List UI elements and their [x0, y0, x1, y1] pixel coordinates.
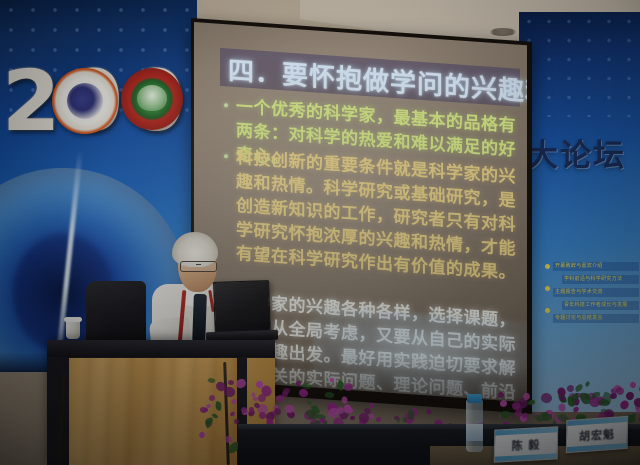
nameplate-name: 胡宏魁 — [567, 417, 627, 452]
forum-title-text: ⼤论坛 — [527, 130, 626, 175]
nameplate-name: 陈 毅 — [495, 427, 557, 461]
program-line: 主题报告与学术交流 — [553, 288, 639, 297]
slide-bullet-text-2: 科技创新的重要条件就是科学家的兴趣和热情。科学研究或基础研究，是创造新知识的工作… — [236, 146, 526, 286]
program-line: 开幕致辞与嘉宾介绍 — [553, 262, 639, 271]
speaker-necktie — [192, 294, 207, 344]
program-bullet-icon — [545, 264, 550, 269]
chair — [86, 281, 146, 345]
program-bullet-icon — [545, 308, 550, 313]
podium-top-edge — [47, 340, 275, 357]
institute-emblem-icon — [52, 68, 118, 134]
podium-wood-panel — [69, 358, 237, 465]
program-line: 青年科技工作者成长与发展 — [562, 301, 639, 310]
nameplate-2: 胡宏魁 — [566, 416, 628, 453]
program-list: 开幕致辞与嘉宾介绍 学科前沿与科学研究方法 主题报告与学术交流 青年科技工作者成… — [553, 262, 639, 327]
green-red-emblem-icon — [121, 68, 183, 130]
nameplate-1: 陈 毅 — [494, 426, 558, 462]
speaker-glasses-icon — [180, 261, 217, 272]
water-bottle-cap — [467, 394, 482, 403]
program-line: 学科前沿与科学研究方法 — [562, 275, 639, 284]
paper-cup — [66, 320, 80, 339]
backdrop-right-dot-pattern — [519, 12, 640, 117]
ceiling-light-1 — [490, 28, 516, 36]
program-line: 专题讨论与总结发言 — [553, 314, 639, 323]
paper-cup-lid — [64, 317, 82, 322]
conference-photo-scene: 200 ⼤论坛 开幕致辞与嘉宾介绍 学科前沿与科学研究方法 主题报告与学术交流 … — [0, 0, 640, 465]
backdrop-banner-right: ⼤论坛 开幕致辞与嘉宾介绍 学科前沿与科学研究方法 主题报告与学术交流 青年科技… — [519, 12, 640, 412]
slide-bullet-icon-2 — [224, 154, 228, 158]
slide-bullet-icon-1 — [224, 103, 228, 107]
program-bullet-icon — [545, 286, 550, 291]
water-bottle-label — [466, 424, 483, 441]
